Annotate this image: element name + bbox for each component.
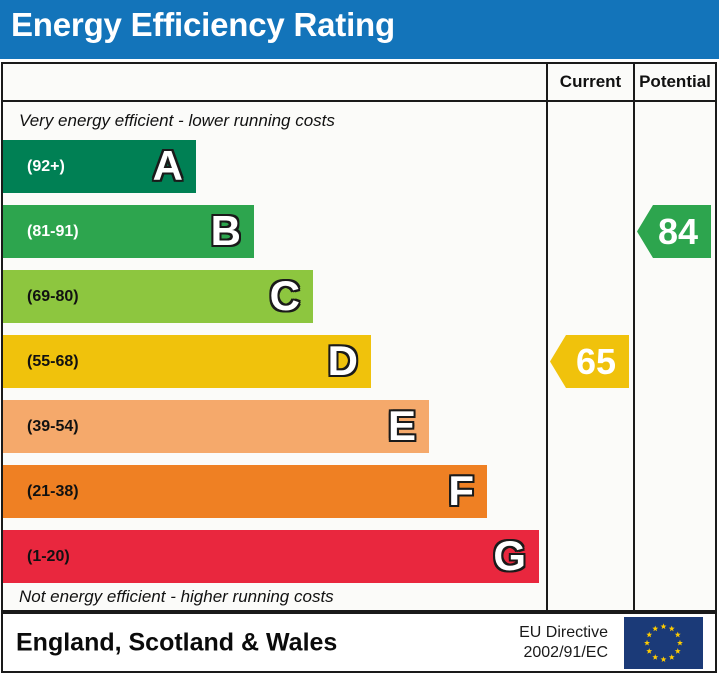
rating-band-letter-g: G [493,535,526,577]
footer-directive-line2: 2002/91/EC [519,643,608,663]
rating-chart-table: Current Potential Very energy efficient … [1,62,717,612]
column-divider-current [546,102,548,610]
rating-band-range-c: (69-80) [27,288,79,306]
column-header-potential: Potential [633,64,715,100]
rating-band-g: (1-20)G [3,530,539,583]
certificate-footer: England, Scotland & Wales EU Directive 2… [1,612,717,673]
current-rating-marker: 65 [550,335,629,388]
rating-band-range-b: (81-91) [27,223,79,241]
rating-band-letter-b: B [211,210,241,252]
page-title: Energy Efficiency Rating [11,6,395,44]
footer-directive: EU Directive 2002/91/EC [519,623,608,663]
rating-band-letter-c: C [270,275,300,317]
rating-band-e: (39-54)E [3,400,429,453]
rating-band-letter-a: A [153,145,183,187]
column-divider-potential [633,102,635,610]
rating-band-f: (21-38)F [3,465,487,518]
rating-band-c: (69-80)C [3,270,313,323]
potential-rating-value: 84 [658,214,698,250]
rating-band-a: (92+)A [3,140,196,193]
current-rating-value: 65 [576,344,616,380]
rating-band-range-a: (92+) [27,158,65,176]
energy-efficiency-certificate: Energy Efficiency Rating Current Potenti… [0,0,719,675]
chart-title-bar: Energy Efficiency Rating [0,0,719,59]
footer-directive-line1: EU Directive [519,623,608,643]
eu-flag-icon [624,617,703,669]
rating-band-letter-e: E [388,405,416,447]
footer-region-label: England, Scotland & Wales [16,628,337,657]
rating-band-b: (81-91)B [3,205,254,258]
rating-band-letter-d: D [328,340,358,382]
column-header-current: Current [546,64,633,100]
rating-band-letter-f: F [448,470,474,512]
rating-bands: (92+)A(81-91)B(69-80)C(55-68)D(39-54)E(2… [3,64,546,610]
rating-band-range-f: (21-38) [27,483,79,501]
rating-band-range-d: (55-68) [27,353,79,371]
potential-rating-marker: 84 [637,205,711,258]
rating-band-d: (55-68)D [3,335,371,388]
rating-band-range-g: (1-20) [27,548,70,566]
rating-band-range-e: (39-54) [27,418,79,436]
